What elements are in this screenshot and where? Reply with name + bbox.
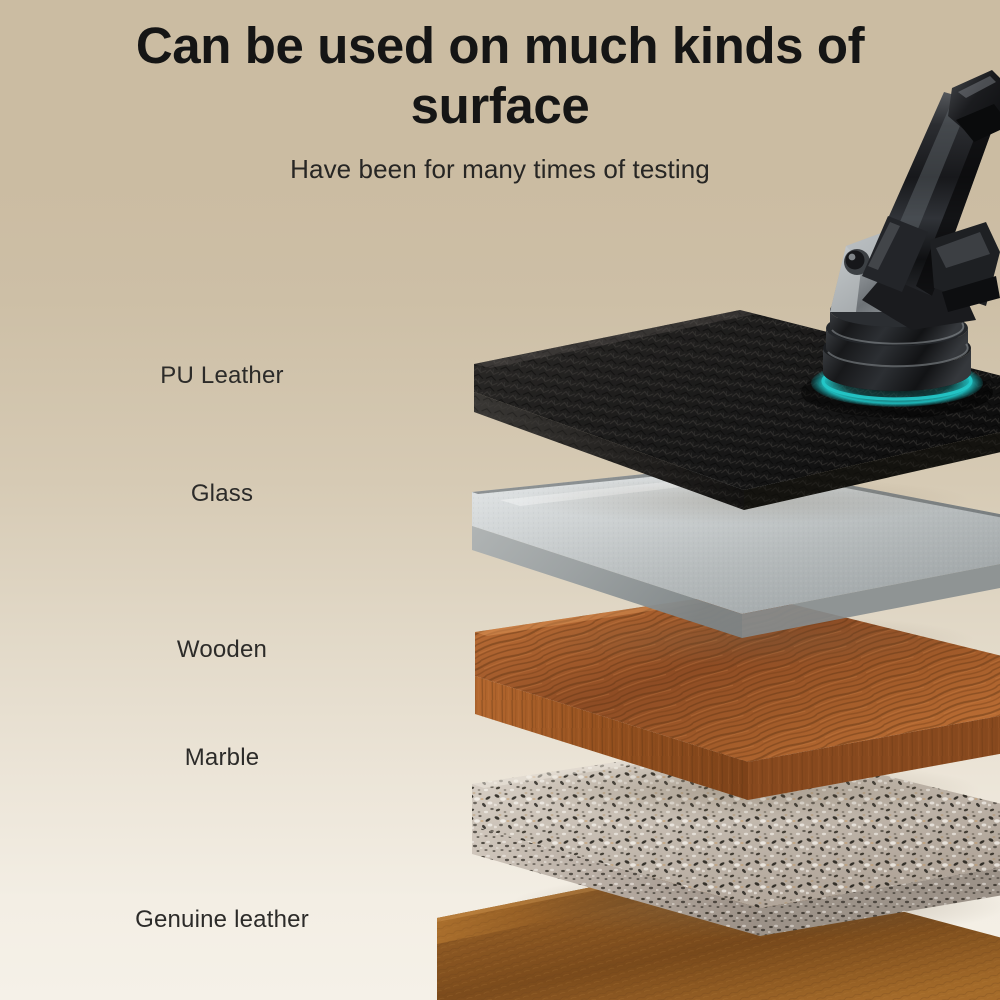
header-block: Can be used on much kinds of surface Hav… xyxy=(0,16,1000,185)
page-subtitle: Have been for many times of testing xyxy=(0,154,1000,185)
page-title: Can be used on much kinds of surface xyxy=(0,16,1000,136)
material-label-genuine-leather: Genuine leather xyxy=(72,906,372,934)
material-label-pu-leather: PU Leather xyxy=(72,362,372,390)
material-label-glass: Glass xyxy=(72,480,372,508)
material-label-marble: Marble xyxy=(72,744,372,772)
material-label-wooden: Wooden xyxy=(72,636,372,664)
product-feature-banner: Can be used on much kinds of surface Hav… xyxy=(0,0,1000,1000)
